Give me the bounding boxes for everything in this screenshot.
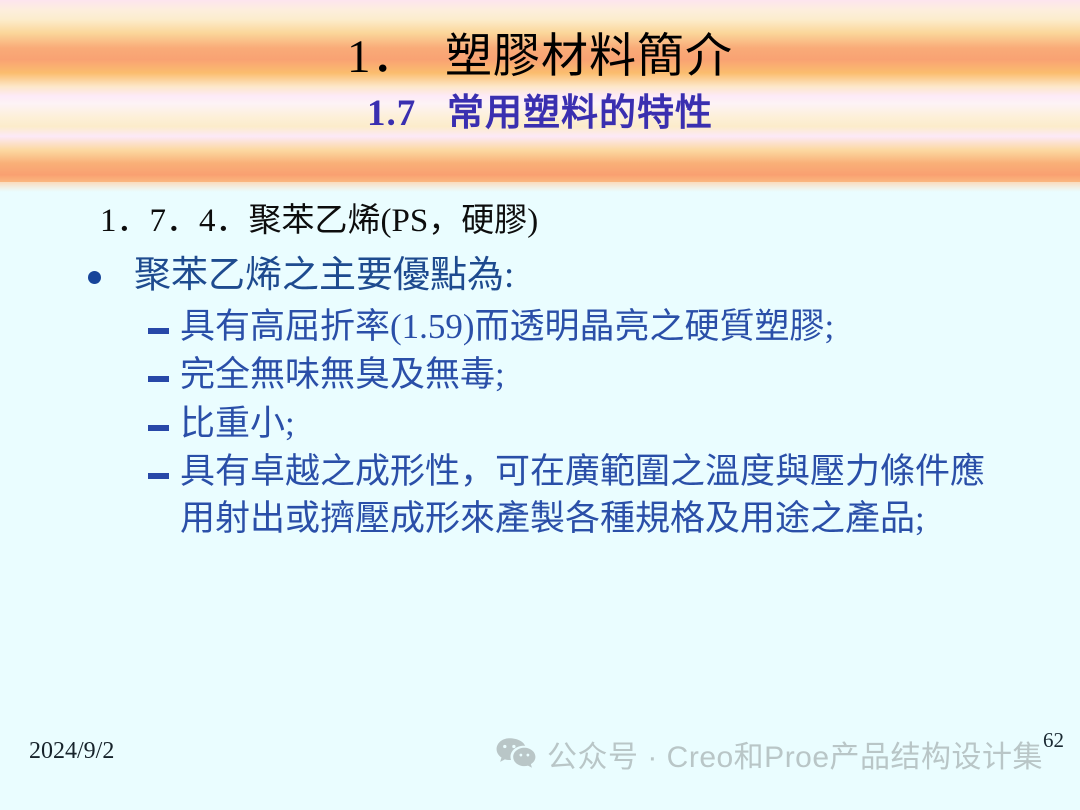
page-subtitle: 1.7 常用塑料的特性 — [0, 84, 1080, 136]
header-content: 1． 塑膠材料簡介 1.7 常用塑料的特性 — [0, 0, 1080, 810]
page-title: 1． 塑膠材料簡介 — [0, 0, 1080, 84]
presentation-slide: 1． 塑膠材料簡介 1.7 常用塑料的特性 1．7．4．聚苯乙烯(PS，硬膠) … — [0, 0, 1080, 810]
